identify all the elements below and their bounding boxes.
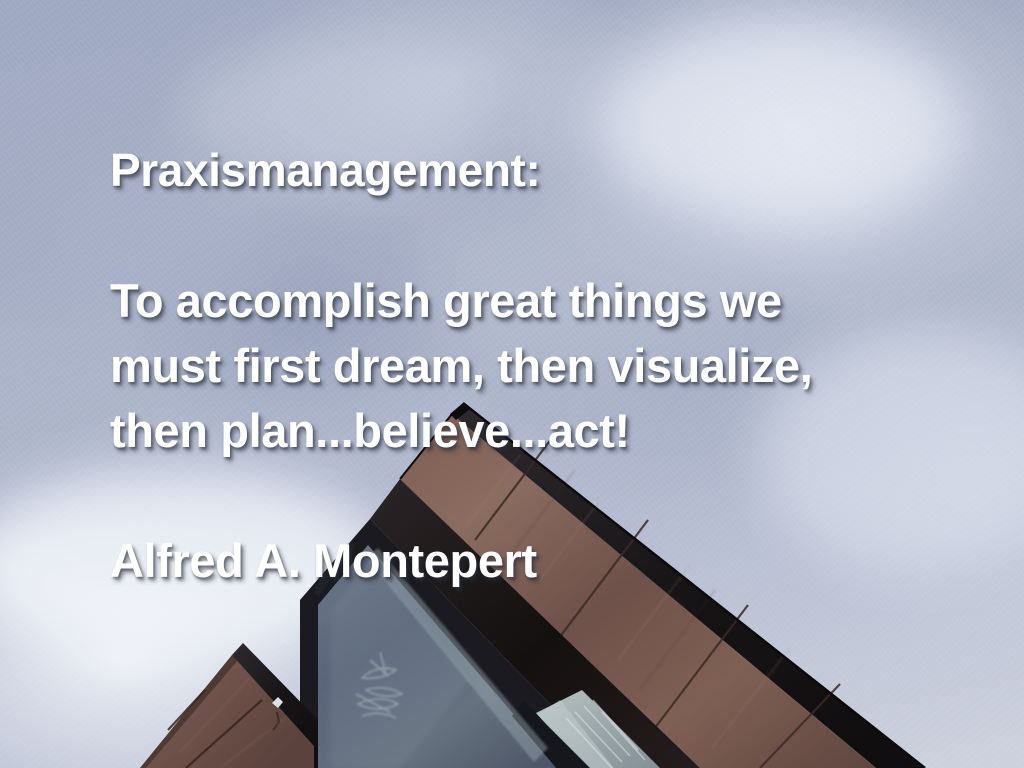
slide-canvas: Praxismanagement: To accomplish great th… xyxy=(0,0,1024,768)
text-spacer-1 xyxy=(110,203,1010,268)
quote-line-3: then plan...believe...act! xyxy=(110,398,1010,463)
quote-attribution: Alfred A. Montepert xyxy=(110,528,1010,593)
text-spacer-2 xyxy=(110,463,1010,528)
quote-line-2: must first dream, then visualize, xyxy=(110,333,1010,398)
slide-text-block: Praxismanagement: To accomplish great th… xyxy=(110,138,1010,593)
slide-title: Praxismanagement: xyxy=(110,138,1010,203)
quote-line-1: To accomplish great things we xyxy=(110,268,1010,333)
